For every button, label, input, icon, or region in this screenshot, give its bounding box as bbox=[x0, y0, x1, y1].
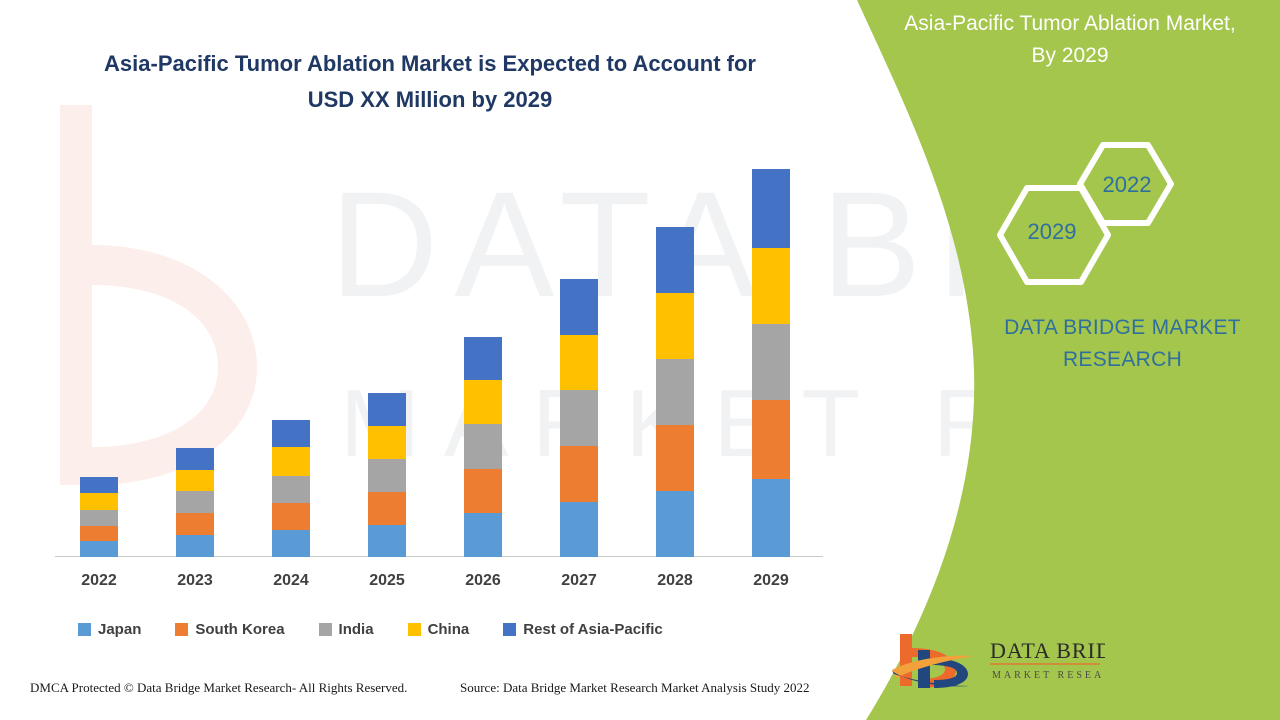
bar-2029 bbox=[752, 169, 790, 557]
bar-segment-japan-2025 bbox=[368, 525, 406, 557]
stacked-bar-plot bbox=[55, 160, 825, 557]
hexagon-label-2022: 2022 bbox=[1095, 172, 1159, 198]
bar-segment-japan-2029 bbox=[752, 479, 790, 557]
legend-swatch-icon bbox=[408, 623, 421, 636]
x-axis-label-2025: 2025 bbox=[347, 572, 427, 590]
panel-title-line-1: Asia-Pacific Tumor Ablation Market, bbox=[870, 8, 1270, 40]
bar-segment-japan-2028 bbox=[656, 491, 694, 557]
legend-label: China bbox=[428, 621, 470, 638]
bar-segment-china-2029 bbox=[752, 248, 790, 324]
bar-segment-south-korea-2022 bbox=[80, 526, 118, 542]
panel-title: Asia-Pacific Tumor Ablation Market, By 2… bbox=[870, 8, 1270, 72]
x-axis-label-2022: 2022 bbox=[59, 572, 139, 590]
legend-item-india[interactable]: India bbox=[319, 621, 374, 638]
logo-mark-icon bbox=[892, 634, 974, 688]
bar-segment-rest-of-asia-pacific-2026 bbox=[464, 337, 502, 381]
bar-segment-india-2029 bbox=[752, 324, 790, 400]
legend-swatch-icon bbox=[503, 623, 516, 636]
bar-segment-south-korea-2023 bbox=[176, 513, 214, 535]
bar-2026 bbox=[464, 337, 502, 557]
legend-label: South Korea bbox=[195, 621, 284, 638]
chart-legend: JapanSouth KoreaIndiaChinaRest of Asia-P… bbox=[78, 617, 697, 641]
bar-2025 bbox=[368, 393, 406, 557]
panel-title-line-2: By 2029 bbox=[870, 40, 1270, 72]
chart-title-line-1: Asia-Pacific Tumor Ablation Market is Ex… bbox=[60, 46, 800, 82]
legend-item-japan[interactable]: Japan bbox=[78, 621, 141, 638]
bar-segment-south-korea-2024 bbox=[272, 503, 310, 530]
page-title: Asia-Pacific Tumor Ablation Market is Ex… bbox=[60, 46, 800, 118]
bar-2022 bbox=[80, 477, 118, 557]
footer: DMCA Protected © Data Bridge Market Rese… bbox=[0, 680, 860, 706]
bar-segment-japan-2026 bbox=[464, 513, 502, 557]
infographic-canvas: DATA BRIDGE MARKET RESEARCH Asia-Pacific… bbox=[0, 0, 1280, 720]
logo-name-bottom: MARKET RESEARCH bbox=[992, 670, 1105, 681]
footer-source: Source: Data Bridge Market Research Mark… bbox=[460, 680, 809, 696]
bar-segment-rest-of-asia-pacific-2029 bbox=[752, 169, 790, 247]
bar-segment-south-korea-2025 bbox=[368, 492, 406, 524]
bar-2024 bbox=[272, 420, 310, 557]
bar-segment-japan-2027 bbox=[560, 502, 598, 557]
bar-segment-china-2028 bbox=[656, 293, 694, 359]
bar-segment-china-2027 bbox=[560, 335, 598, 390]
bar-segment-china-2026 bbox=[464, 380, 502, 424]
bar-segment-south-korea-2027 bbox=[560, 446, 598, 501]
bar-segment-rest-of-asia-pacific-2027 bbox=[560, 279, 598, 334]
chart-title-line-2: USD XX Million by 2029 bbox=[60, 82, 800, 118]
footer-copyright: DMCA Protected © Data Bridge Market Rese… bbox=[30, 680, 407, 696]
bar-segment-japan-2024 bbox=[272, 530, 310, 557]
bar-segment-china-2023 bbox=[176, 470, 214, 491]
x-axis-label-2028: 2028 bbox=[635, 572, 715, 590]
bar-segment-india-2025 bbox=[368, 459, 406, 492]
x-axis-label-2023: 2023 bbox=[155, 572, 235, 590]
legend-swatch-icon bbox=[78, 623, 91, 636]
legend-item-rest-of-asia-pacific[interactable]: Rest of Asia-Pacific bbox=[503, 621, 663, 638]
legend-item-china[interactable]: China bbox=[408, 621, 470, 638]
bar-2023 bbox=[176, 448, 214, 557]
bar-segment-china-2025 bbox=[368, 426, 406, 458]
bar-2027 bbox=[560, 279, 598, 557]
bar-segment-india-2026 bbox=[464, 424, 502, 469]
legend-item-south-korea[interactable]: South Korea bbox=[175, 621, 284, 638]
bar-segment-south-korea-2028 bbox=[656, 425, 694, 491]
bar-segment-japan-2023 bbox=[176, 535, 214, 557]
legend-swatch-icon bbox=[175, 623, 188, 636]
legend-label: Rest of Asia-Pacific bbox=[523, 621, 663, 638]
x-axis-label-2024: 2024 bbox=[251, 572, 331, 590]
bar-segment-rest-of-asia-pacific-2023 bbox=[176, 448, 214, 470]
x-axis-label-2029: 2029 bbox=[731, 572, 811, 590]
x-axis-label-2027: 2027 bbox=[539, 572, 619, 590]
hexagon-badges bbox=[985, 140, 1185, 285]
bar-segment-india-2023 bbox=[176, 491, 214, 513]
logo-name-top: DATA BRIDGE bbox=[990, 638, 1105, 663]
panel-brand-line-1: DATA BRIDGE MARKET bbox=[965, 312, 1280, 344]
data-bridge-logo: DATA BRIDGE MARKET RESEARCH bbox=[890, 630, 1105, 692]
bar-segment-india-2024 bbox=[272, 476, 310, 503]
bar-segment-china-2022 bbox=[80, 493, 118, 510]
bar-segment-south-korea-2029 bbox=[752, 400, 790, 478]
x-axis-label-2026: 2026 bbox=[443, 572, 523, 590]
hexagon-label-2029: 2029 bbox=[1020, 219, 1084, 245]
bar-segment-india-2028 bbox=[656, 359, 694, 426]
panel-brand: DATA BRIDGE MARKET RESEARCH bbox=[965, 312, 1280, 376]
bar-segment-rest-of-asia-pacific-2028 bbox=[656, 227, 694, 293]
legend-label: India bbox=[339, 621, 374, 638]
x-axis-labels: 20222023202420252026202720282029 bbox=[55, 572, 825, 602]
bar-segment-japan-2022 bbox=[80, 541, 118, 557]
bar-segment-south-korea-2026 bbox=[464, 469, 502, 513]
panel-brand-line-2: RESEARCH bbox=[965, 344, 1280, 376]
bar-segment-india-2022 bbox=[80, 510, 118, 526]
bar-segment-rest-of-asia-pacific-2024 bbox=[272, 420, 310, 447]
bar-2028 bbox=[656, 227, 694, 557]
bar-segment-rest-of-asia-pacific-2022 bbox=[80, 477, 118, 494]
legend-label: Japan bbox=[98, 621, 141, 638]
bar-segment-china-2024 bbox=[272, 447, 310, 475]
legend-swatch-icon bbox=[319, 623, 332, 636]
bar-segment-india-2027 bbox=[560, 390, 598, 446]
bar-segment-rest-of-asia-pacific-2025 bbox=[368, 393, 406, 426]
